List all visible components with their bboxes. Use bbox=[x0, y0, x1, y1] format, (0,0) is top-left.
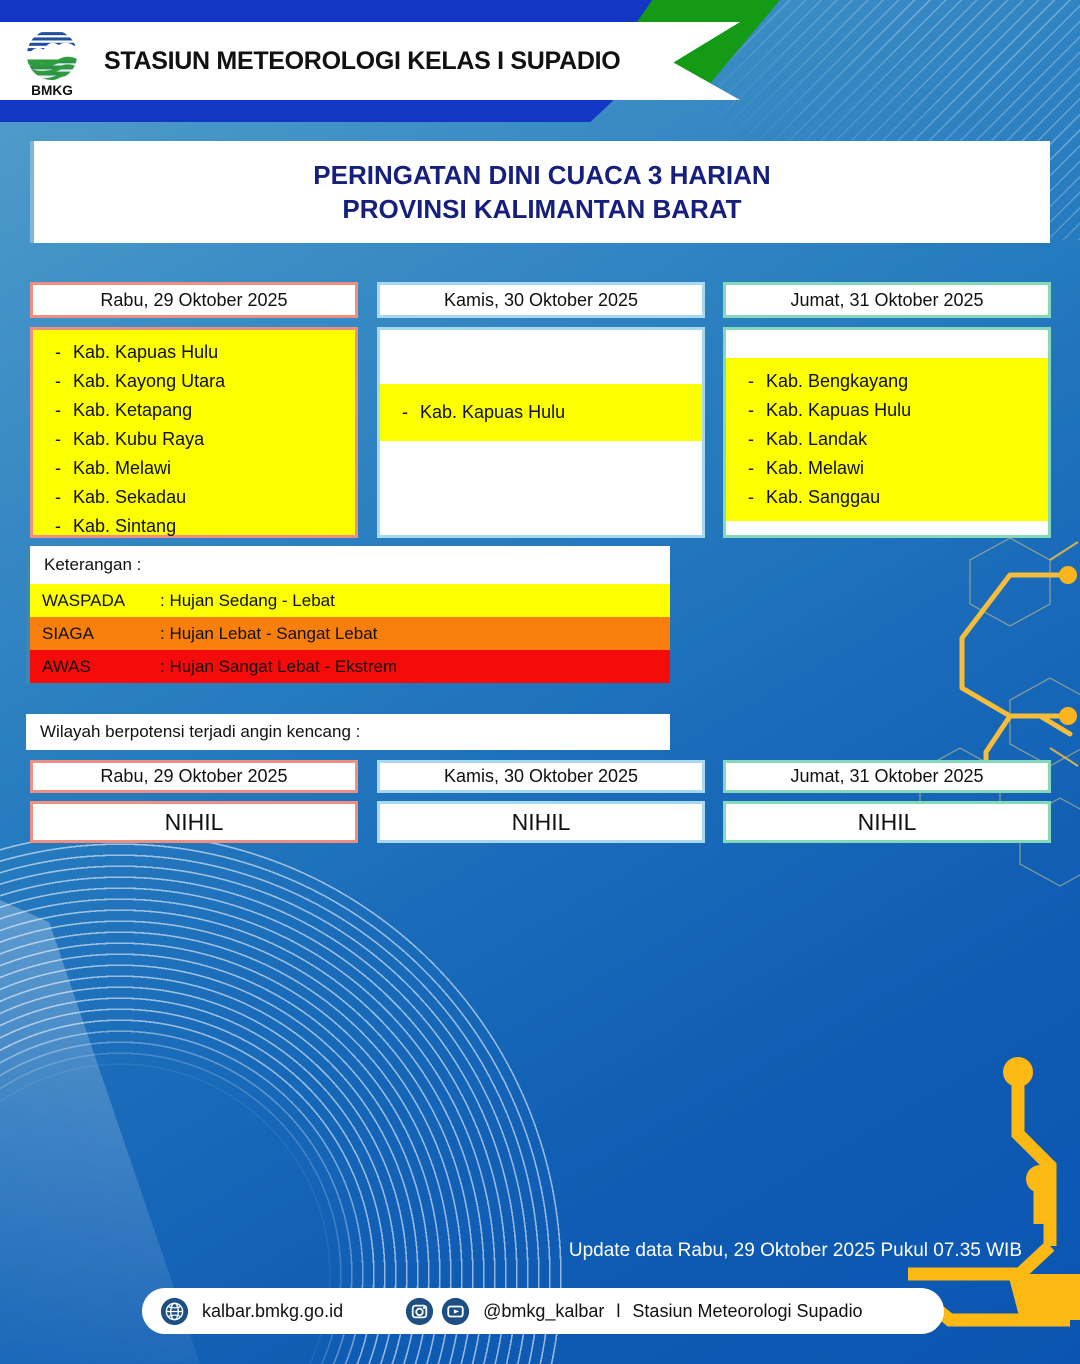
day3-region-panel: -Kab. Bengkayang -Kab. Kapuas Hulu -Kab.… bbox=[723, 327, 1051, 538]
day3-waspada-block: -Kab. Bengkayang -Kab. Kapuas Hulu -Kab.… bbox=[726, 358, 1048, 521]
update-timestamp: Update data Rabu, 29 Oktober 2025 Pukul … bbox=[0, 1240, 1022, 1262]
forecast-column-day3: Jumat, 31 Oktober 2025 -Kab. Bengkayang … bbox=[723, 282, 1051, 538]
day1-waspada-block: -Kab. Kapuas Hulu -Kab. Kayong Utara -Ka… bbox=[33, 330, 355, 535]
region-label: Kab. Kapuas Hulu bbox=[73, 342, 218, 362]
region-label: Kab. Sekadau bbox=[73, 487, 186, 507]
youtube-icon[interactable] bbox=[441, 1297, 470, 1326]
legend-row-waspada: WASPADA : Hujan Sedang - Lebat bbox=[30, 584, 670, 617]
legend-label: WASPADA bbox=[30, 591, 160, 611]
legend-description: : Hujan Sedang - Lebat bbox=[160, 591, 335, 611]
legend-heading: Keterangan : bbox=[30, 546, 670, 584]
title-line-1: PERINGATAN DINI CUACA 3 HARIAN bbox=[313, 158, 770, 192]
legend-row-siaga: SIAGA : Hujan Lebat - Sangat Lebat bbox=[30, 617, 670, 650]
day3-date-header: Jumat, 31 Oktober 2025 bbox=[723, 282, 1051, 318]
region-item: -Kab. Kubu Raya bbox=[33, 425, 355, 454]
legend-row-awas: AWAS : Hujan Sangat Lebat - Ekstrem bbox=[30, 650, 670, 683]
wind-day3-date: Jumat, 31 Oktober 2025 bbox=[723, 760, 1051, 793]
region-label: Kab. Landak bbox=[766, 429, 867, 449]
region-item: -Kab. Sintang bbox=[33, 512, 355, 541]
legend-label: SIAGA bbox=[30, 624, 160, 644]
day2-date-header: Kamis, 30 Oktober 2025 bbox=[377, 282, 705, 318]
wind-day2-value: NIHIL bbox=[377, 801, 705, 843]
day1-date-header: Rabu, 29 Oktober 2025 bbox=[30, 282, 358, 318]
instagram-icon[interactable] bbox=[405, 1297, 434, 1326]
region-label: Kab. Ketapang bbox=[73, 400, 192, 420]
contact-bar: kalbar.bmkg.go.id @bmkg_kalbar l Stasiun… bbox=[142, 1288, 944, 1334]
website-link[interactable]: kalbar.bmkg.go.id bbox=[202, 1301, 343, 1322]
hexagon-network-decoration bbox=[900, 520, 1080, 920]
region-item: -Kab. Kapuas Hulu bbox=[380, 398, 702, 427]
region-label: Kab. Sintang bbox=[73, 516, 176, 536]
bmkg-logo-icon: BMKG bbox=[14, 23, 90, 99]
social-handle[interactable]: @bmkg_kalbar bbox=[483, 1301, 604, 1322]
wind-day1-value: NIHIL bbox=[30, 801, 358, 843]
region-item: -Kab. Kayong Utara bbox=[33, 367, 355, 396]
station-name: Stasiun Meteorologi Supadio bbox=[632, 1301, 862, 1322]
day2-waspada-block: -Kab. Kapuas Hulu bbox=[380, 384, 702, 441]
wind-column-day3: Jumat, 31 Oktober 2025 NIHIL bbox=[723, 760, 1051, 843]
region-label: Kab. Kapuas Hulu bbox=[766, 400, 911, 420]
region-item: -Kab. Bengkayang bbox=[726, 367, 1048, 396]
legend-panel: Keterangan : WASPADA : Hujan Sedang - Le… bbox=[26, 546, 670, 683]
region-label: Kab. Sanggau bbox=[766, 487, 880, 507]
wind-day3-value: NIHIL bbox=[723, 801, 1051, 843]
region-label: Kab. Kubu Raya bbox=[73, 429, 204, 449]
wind-section-heading: Wilayah berpotensi terjadi angin kencang… bbox=[26, 714, 670, 750]
region-item: -Kab. Melawi bbox=[726, 454, 1048, 483]
region-item: -Kab. Sekadau bbox=[33, 483, 355, 512]
region-label: Kab. Kayong Utara bbox=[73, 371, 225, 391]
region-item: -Kab. Kapuas Hulu bbox=[33, 338, 355, 367]
region-label: Kab. Melawi bbox=[766, 458, 864, 478]
wind-column-day2: Kamis, 30 Oktober 2025 NIHIL bbox=[377, 760, 705, 843]
region-label: Kab. Kapuas Hulu bbox=[420, 402, 565, 422]
station-title: STASIUN METEOROLOGI KELAS I SUPADIO bbox=[104, 47, 620, 76]
page-header: BMKG STASIUN METEOROLOGI KELAS I SUPADIO bbox=[0, 0, 1080, 122]
infographic-page: BMKG STASIUN METEOROLOGI KELAS I SUPADIO… bbox=[0, 0, 1080, 1364]
forecast-column-day1: Rabu, 29 Oktober 2025 -Kab. Kapuas Hulu … bbox=[30, 282, 358, 538]
page-title: PERINGATAN DINI CUACA 3 HARIAN PROVINSI … bbox=[30, 141, 1050, 243]
wind-day1-date: Rabu, 29 Oktober 2025 bbox=[30, 760, 358, 793]
legend-description: : Hujan Sangat Lebat - Ekstrem bbox=[160, 657, 397, 677]
wind-day2-date: Kamis, 30 Oktober 2025 bbox=[377, 760, 705, 793]
title-line-2: PROVINSI KALIMANTAN BARAT bbox=[342, 192, 741, 226]
region-item: -Kab. Kapuas Hulu bbox=[726, 396, 1048, 425]
region-item: -Kab. Landak bbox=[726, 425, 1048, 454]
day1-region-panel: -Kab. Kapuas Hulu -Kab. Kayong Utara -Ka… bbox=[30, 327, 358, 538]
region-item: -Kab. Sanggau bbox=[726, 483, 1048, 512]
legend-description: : Hujan Lebat - Sangat Lebat bbox=[160, 624, 377, 644]
region-label: Kab. Bengkayang bbox=[766, 371, 908, 391]
globe-icon[interactable] bbox=[160, 1297, 189, 1326]
svg-text:BMKG: BMKG bbox=[31, 83, 73, 98]
region-item: -Kab. Melawi bbox=[33, 454, 355, 483]
header-white-banner: BMKG STASIUN METEOROLOGI KELAS I SUPADIO bbox=[0, 22, 740, 100]
wind-column-day1: Rabu, 29 Oktober 2025 NIHIL bbox=[30, 760, 358, 843]
legend-label: AWAS bbox=[30, 657, 160, 677]
concentric-arcs-decoration bbox=[0, 824, 570, 1364]
region-label: Kab. Melawi bbox=[73, 458, 171, 478]
day2-region-panel: -Kab. Kapuas Hulu bbox=[377, 327, 705, 538]
forecast-column-day2: Kamis, 30 Oktober 2025 -Kab. Kapuas Hulu bbox=[377, 282, 705, 538]
separator: l bbox=[616, 1301, 620, 1322]
region-item: -Kab. Ketapang bbox=[33, 396, 355, 425]
